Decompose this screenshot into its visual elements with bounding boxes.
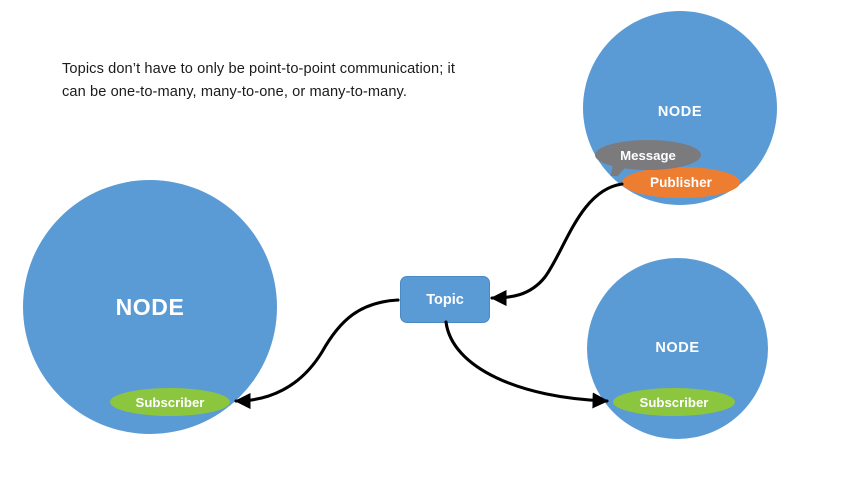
- subscriber-pill-left: Subscriber: [110, 388, 230, 416]
- node-label-top-right: NODE: [583, 104, 777, 120]
- caption-line-1: Topics don’t have to only be point-to-po…: [62, 58, 482, 81]
- connector-topic-to-subscriber-bottom-right: [446, 322, 607, 401]
- subscriber-pill-bottom-right: Subscriber: [613, 388, 735, 416]
- caption-text: Topics don’t have to only be point-to-po…: [62, 58, 482, 103]
- message-bubble: Message: [595, 140, 701, 170]
- diagram-canvas: Topics don’t have to only be point-to-po…: [0, 0, 854, 480]
- node-label-bottom-right: NODE: [587, 340, 768, 356]
- node-label-left: NODE: [23, 294, 277, 321]
- publisher-pill: Publisher: [622, 167, 740, 198]
- topic-box: Topic: [400, 276, 490, 323]
- caption-line-2: can be one-to-many, many-to-one, or many…: [62, 81, 482, 104]
- connector-publisher-to-topic: [492, 184, 622, 298]
